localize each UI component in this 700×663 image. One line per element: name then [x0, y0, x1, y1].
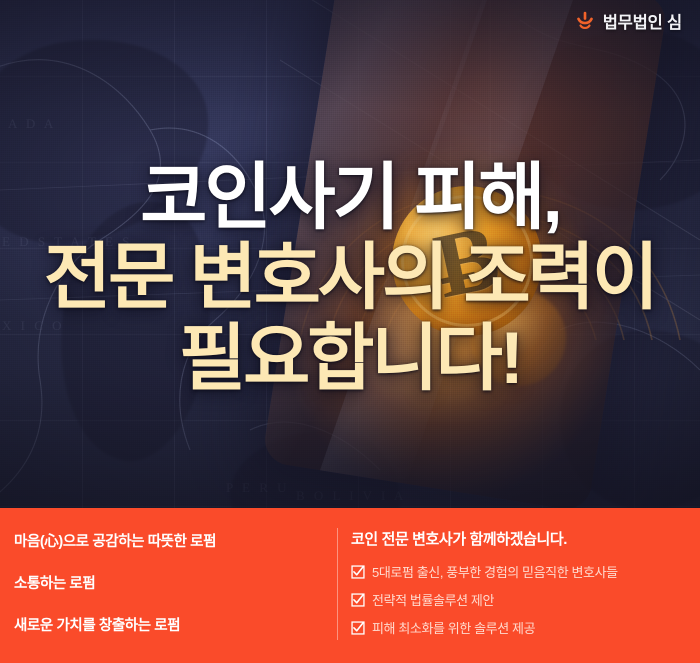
- list-item: 5대로펌 출신, 풍부한 경험의 믿음직한 변호사들: [351, 562, 700, 581]
- headline-line-3: 필요합니다!: [0, 323, 700, 395]
- slogan-item: 소통하는 로펌: [14, 572, 337, 593]
- promise-column: 코인 전문 변호사가 함께하겠습니다. 5대로펌 출신, 풍부한 경험의 믿음직…: [337, 508, 700, 663]
- slogan-item: 새로운 가치를 창출하는 로펌: [14, 614, 337, 635]
- promise-heading: 코인 전문 변호사가 함께하겠습니다.: [351, 528, 700, 549]
- list-item-label: 전략적 법률솔루션 제안: [372, 590, 494, 609]
- power-smile-icon: [575, 11, 595, 31]
- slogan-column: 마음(心)으로 공감하는 따뜻한 로펌 소통하는 로펌 새로운 가치를 창출하는…: [0, 508, 337, 663]
- brand-name: 법무법인 심: [603, 9, 682, 33]
- footer-section: 마음(心)으로 공감하는 따뜻한 로펌 소통하는 로펌 새로운 가치를 창출하는…: [0, 508, 700, 663]
- list-item-label: 5대로펌 출신, 풍부한 경험의 믿음직한 변호사들: [372, 562, 618, 581]
- brand-logo[interactable]: 법무법인 심: [575, 9, 682, 33]
- checkbox-checked-icon: [351, 621, 365, 635]
- checkbox-checked-icon: [351, 565, 365, 579]
- list-item-label: 피해 최소화를 위한 솔루션 제공: [372, 618, 535, 637]
- column-divider: [337, 528, 338, 640]
- hero-section: A D A E D S T A T E S X I C O P E R U B …: [0, 0, 700, 508]
- list-item: 전략적 법률솔루션 제안: [351, 590, 700, 609]
- headline: 코인사기 피해, 전문 변호사의 조력이 필요합니다!: [0, 162, 700, 395]
- list-item: 피해 최소화를 위한 솔루션 제공: [351, 618, 700, 637]
- checkbox-checked-icon: [351, 593, 365, 607]
- slogan-item: 마음(心)으로 공감하는 따뜻한 로펌: [14, 530, 337, 551]
- headline-line-1: 코인사기 피해,: [0, 162, 700, 234]
- headline-line-2: 전문 변호사의 조력이: [0, 242, 700, 314]
- advertisement-banner: A D A E D S T A T E S X I C O P E R U B …: [0, 0, 700, 663]
